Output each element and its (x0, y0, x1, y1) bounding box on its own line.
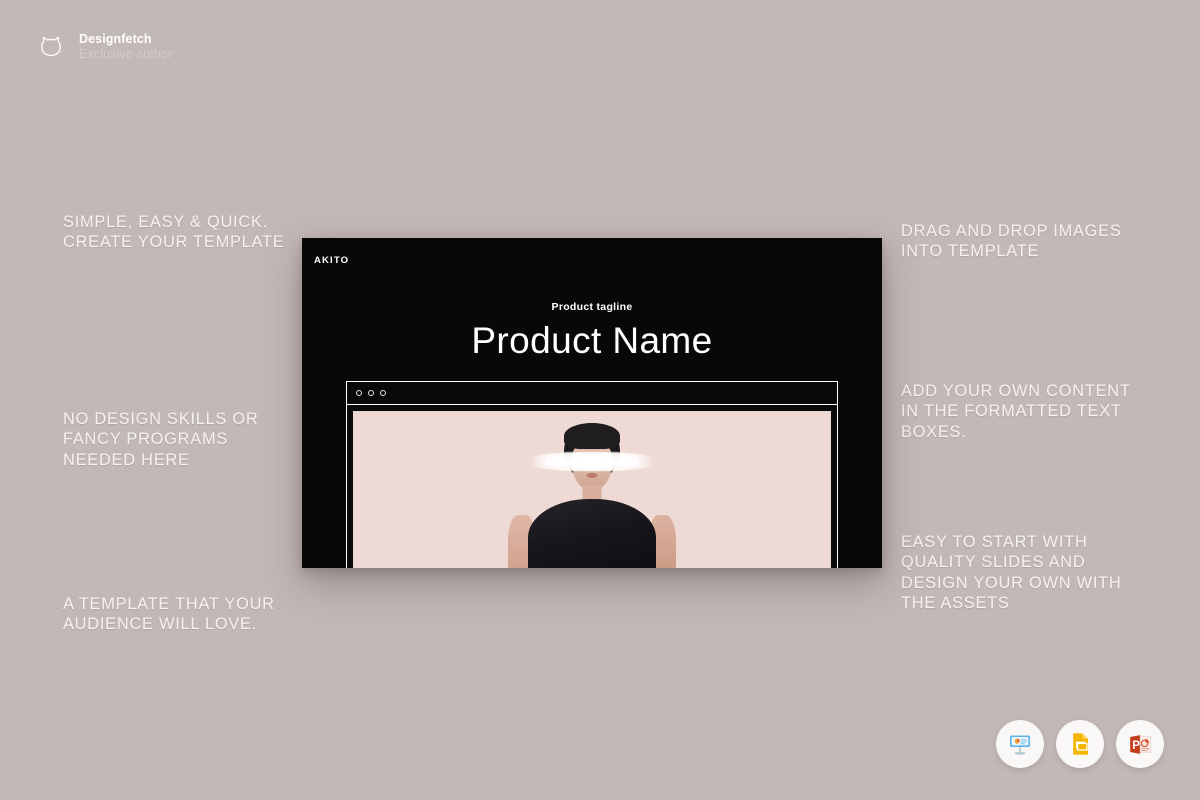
google-slides-icon[interactable] (1056, 720, 1104, 768)
browser-content: FASHION EDITORIAL (353, 411, 831, 568)
slide-tagline: Product tagline (302, 301, 882, 313)
keynote-icon[interactable] (996, 720, 1044, 768)
browser-dot-icon-1[interactable] (356, 390, 362, 396)
slide-title: Product Name (302, 320, 882, 362)
photo-brush-stroke-core (544, 456, 640, 467)
photo-model-headband (564, 423, 620, 449)
browser-dot-icon-2[interactable] (368, 390, 374, 396)
format-icons-group: P (996, 720, 1164, 768)
photo-model-lips (587, 473, 598, 478)
browser-mockup: FASHION EDITORIAL (346, 381, 838, 568)
brand-header: Designfetch Exclusive author (36, 32, 172, 62)
caption-no-design-skills: NO DESIGN SKILLS OR FANCY PROGRAMS NEEDE… (63, 409, 333, 470)
photo-model-torso (528, 499, 656, 568)
brand-name: Designfetch (79, 32, 172, 47)
powerpoint-icon[interactable]: P (1116, 720, 1164, 768)
caption-easy-to-start: EASY TO START WITH QUALITY SLIDES AND DE… (901, 532, 1151, 613)
slide-canvas: AKITO Product tagline Product Name (302, 238, 882, 568)
slide-brand-mark: AKITO (314, 255, 349, 266)
cat-outline-icon (36, 32, 66, 62)
slide-preview[interactable]: AKITO Product tagline Product Name (302, 238, 882, 568)
browser-dot-icon-3[interactable] (380, 390, 386, 396)
caption-audience-will-love: A TEMPLATE THAT YOUR AUDIENCE WILL LOVE. (63, 594, 333, 635)
browser-titlebar (347, 382, 837, 405)
caption-simple-easy-quick: SIMPLE, EASY & QUICK. CREATE YOUR TEMPLA… (63, 212, 333, 253)
caption-add-own-content: ADD YOUR OWN CONTENT IN THE FORMATTED TE… (901, 381, 1151, 442)
svg-text:P: P (1132, 740, 1140, 752)
brand-subtitle: Exclusive author (79, 47, 172, 62)
caption-drag-and-drop: DRAG AND DROP IMAGES INTO TEMPLATE (901, 221, 1151, 262)
fashion-photo: FASHION EDITORIAL (353, 411, 831, 568)
